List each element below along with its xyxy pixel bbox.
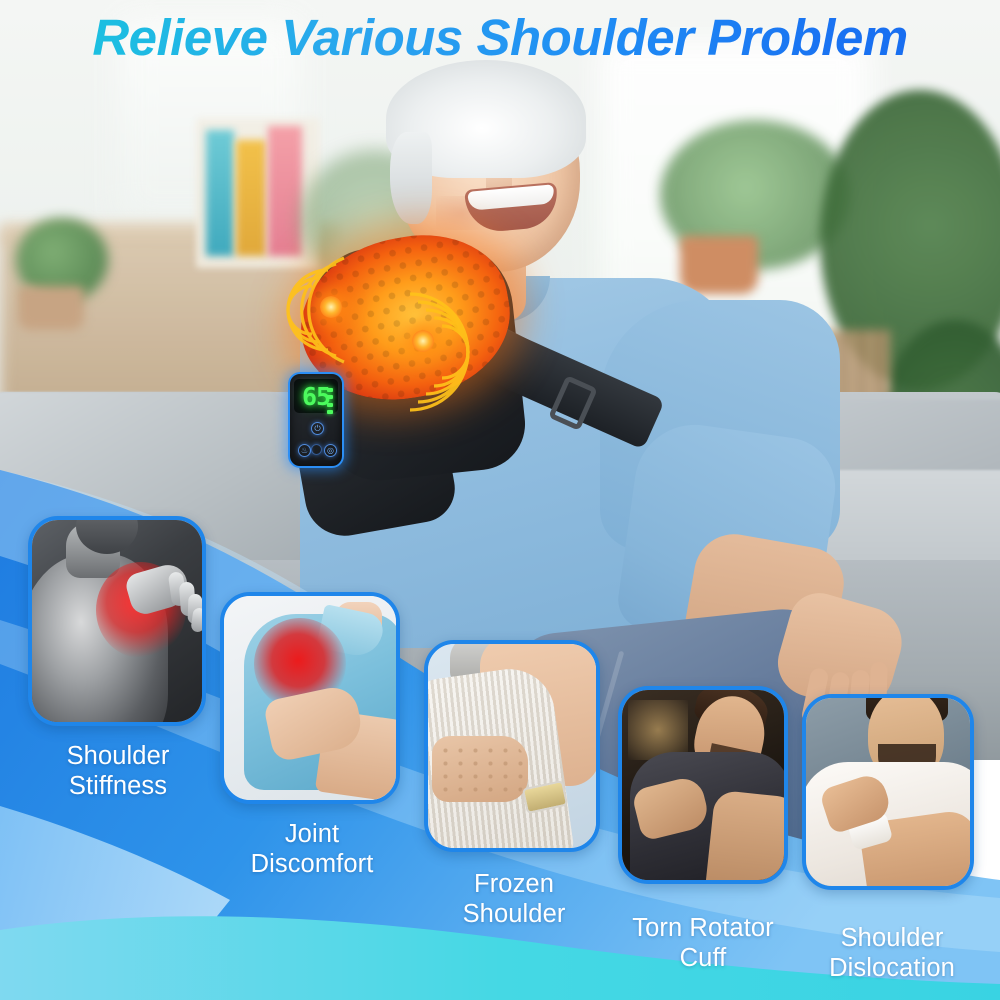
condition-card-shoulder-dislocation[interactable]	[802, 694, 974, 890]
condition-image-torn-rotator-cuff	[622, 690, 784, 880]
condition-image-shoulder-dislocation	[806, 698, 970, 886]
product-banner: 65 ⏻ ♨ ◎	[0, 0, 1000, 1000]
condition-label-frozen-shoulder: Frozen Shoulder	[414, 870, 614, 929]
page-title: Relieve Various Shoulder Problem	[0, 8, 1000, 67]
condition-image-shoulder-stiffness	[32, 520, 202, 722]
condition-card-shoulder-stiffness[interactable]	[28, 516, 206, 726]
label-line-1: Torn Rotator	[592, 914, 814, 944]
condition-label-torn-rotator-cuff: Torn Rotator Cuff	[592, 914, 814, 973]
condition-label-joint-discomfort: Joint Discomfort	[212, 820, 412, 879]
condition-image-frozen-shoulder	[428, 644, 596, 848]
label-line-1: Shoulder	[18, 742, 218, 772]
condition-card-joint-discomfort[interactable]	[220, 592, 400, 804]
label-line-2: Shoulder	[414, 900, 614, 930]
condition-card-frozen-shoulder[interactable]	[424, 640, 600, 852]
label-line-1: Shoulder	[786, 924, 998, 954]
label-line-1: Frozen	[414, 870, 614, 900]
condition-image-joint-discomfort	[224, 596, 396, 800]
label-line-2: Stiffness	[18, 772, 218, 802]
label-line-2: Discomfort	[212, 850, 412, 880]
label-line-2: Dislocation	[786, 954, 998, 984]
condition-label-shoulder-stiffness: Shoulder Stiffness	[18, 742, 218, 801]
label-line-1: Joint	[212, 820, 412, 850]
label-line-2: Cuff	[592, 944, 814, 974]
condition-label-shoulder-dislocation: Shoulder Dislocation	[786, 924, 998, 983]
condition-card-torn-rotator-cuff[interactable]	[618, 686, 788, 884]
